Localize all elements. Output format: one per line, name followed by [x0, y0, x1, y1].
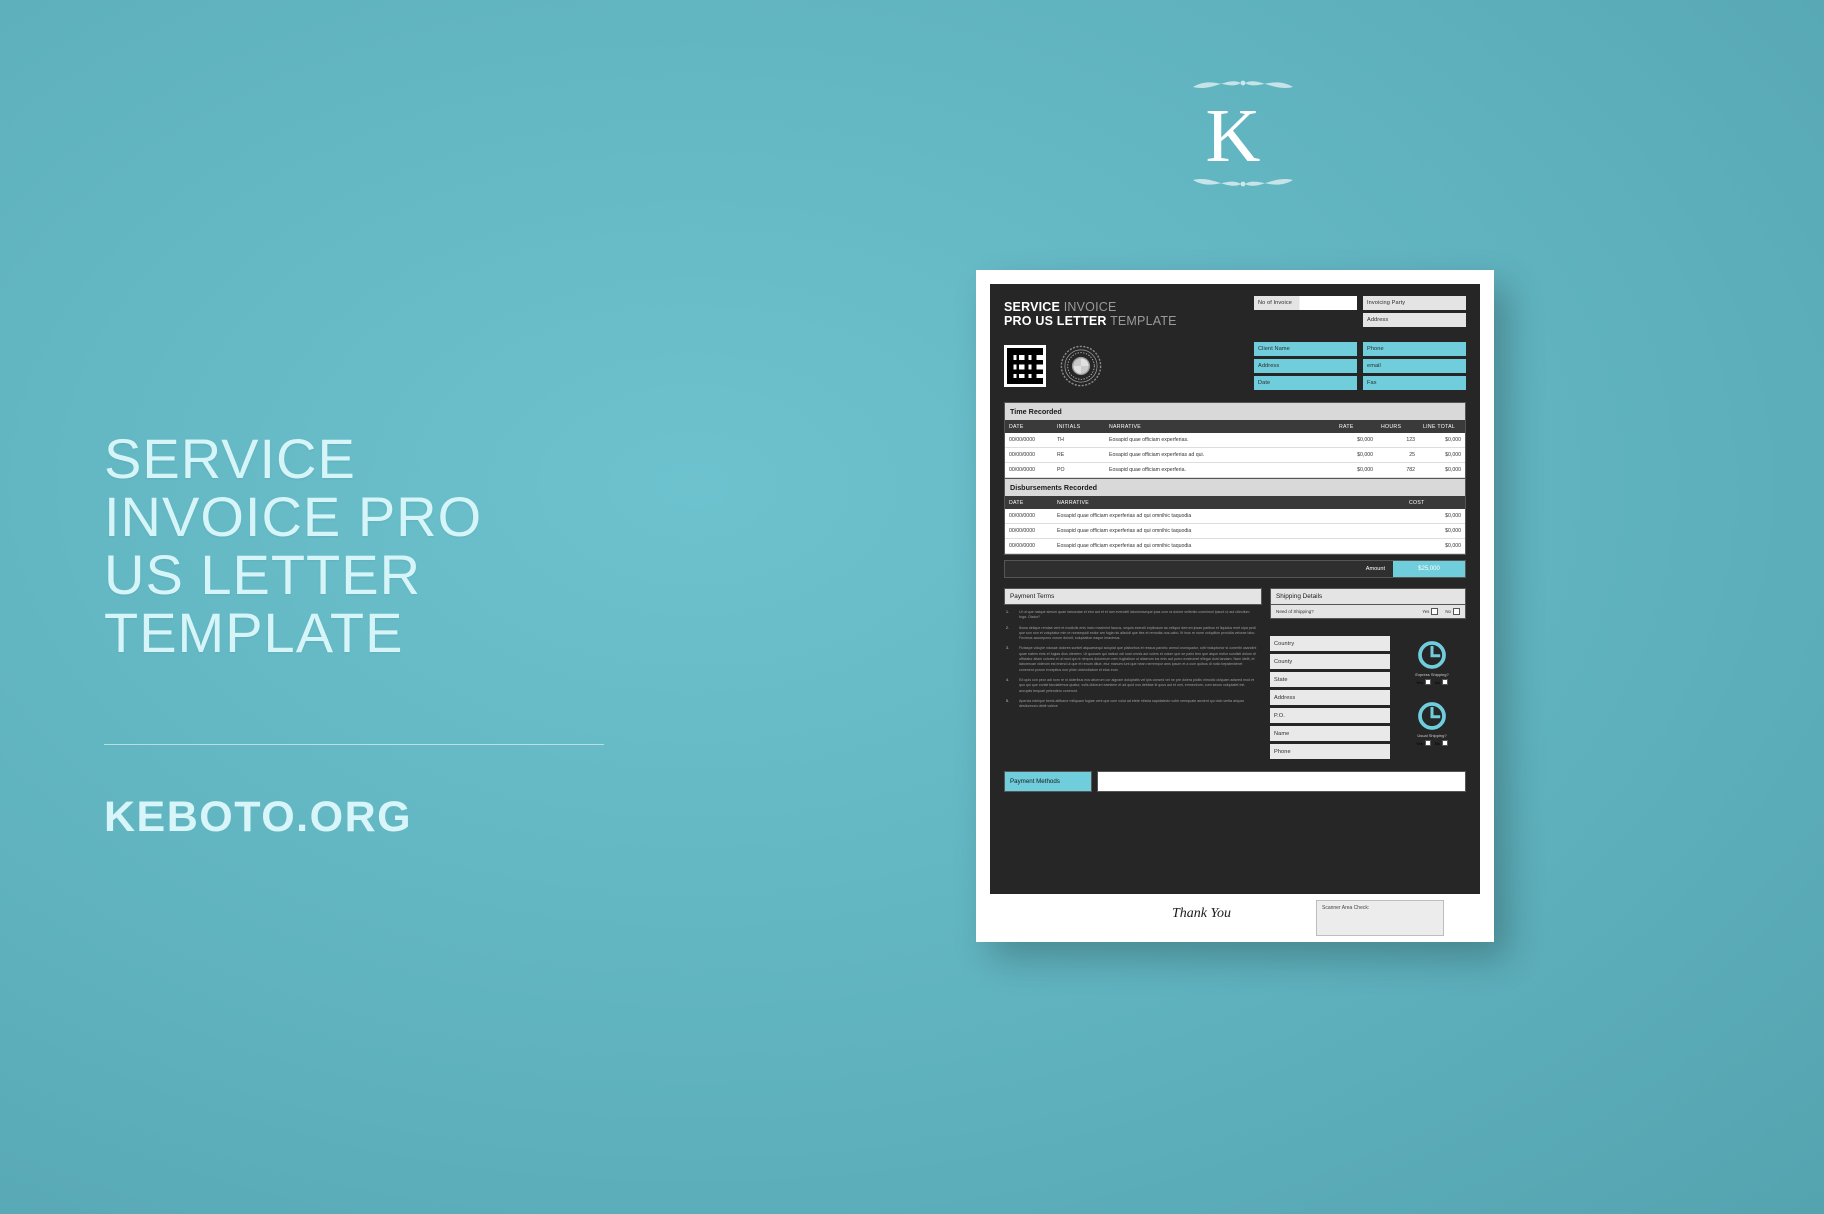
cell-date: 00/00/0000 — [1005, 509, 1053, 523]
brand-logo: K — [1183, 73, 1283, 199]
time-recorded-header: DATE INITIALS NARRATIVE RATE HOURS LINE … — [1005, 420, 1465, 433]
col-initials: INITIALS — [1053, 420, 1105, 433]
checkbox-icon[interactable] — [1453, 608, 1460, 615]
cell-narrative: Eosapid quae officiam experferias ad qui… — [1053, 539, 1405, 553]
col-cost: COST — [1405, 496, 1465, 509]
term-text: Fictaspe volupie ndusae dolores suntiet … — [1019, 646, 1258, 672]
field-date[interactable]: Date — [1254, 376, 1357, 390]
table-row[interactable]: 00/00/0000 PO Eosapid quae officiam expe… — [1005, 463, 1465, 478]
table-row[interactable]: 00/00/0000 Eosapid quae officiam experfe… — [1005, 524, 1465, 539]
flourish-bottom-icon — [1183, 172, 1303, 194]
clock-icon — [1417, 701, 1447, 731]
seal-stamp-icon — [1060, 345, 1102, 387]
cell-hours: 782 — [1377, 463, 1419, 477]
field-client-address[interactable]: Address — [1254, 359, 1357, 373]
list-item: 3.Fictaspe volupie ndusae dolores suntie… — [1006, 646, 1258, 672]
term-text: Ed quis con peor adi nom re ni doleribus… — [1019, 678, 1258, 694]
table-row[interactable]: 00/00/0000 TH Eosapid quae officiam expe… — [1005, 433, 1465, 448]
cell-hours: 123 — [1377, 433, 1419, 447]
cell-total: $0,000 — [1419, 448, 1465, 462]
field-no-of-invoice[interactable]: No of Invoice — [1254, 296, 1357, 310]
express-shipping-no[interactable]: No — [1435, 679, 1448, 685]
field-shipping-address[interactable]: Address — [1270, 690, 1390, 705]
payment-methods-input[interactable] — [1097, 771, 1466, 792]
field-client-name[interactable]: Client Name — [1254, 342, 1357, 356]
title-bold-2: PRO US LETTER — [1004, 314, 1107, 328]
express-shipping-label: Express Shipping? — [1415, 672, 1448, 677]
amount-total-row: Amount $25,000 — [1004, 560, 1466, 578]
list-item: 4.Ed quis con peor adi nom re ni dolerib… — [1006, 678, 1258, 694]
promo-block: SERVICE INVOICE PRO US LETTER TEMPLATE K… — [104, 430, 664, 842]
need-shipping-yes[interactable]: Yes — [1422, 608, 1438, 615]
need-shipping-no[interactable]: No — [1445, 608, 1460, 615]
field-county[interactable]: County — [1270, 654, 1390, 669]
usual-shipping-no[interactable]: No — [1435, 740, 1448, 746]
field-po[interactable]: P.O. — [1270, 708, 1390, 723]
site-url: KEBOTO.ORG — [104, 793, 664, 842]
logo-letter: K — [1183, 100, 1283, 172]
title-bold-1: SERVICE — [1004, 300, 1060, 314]
shipping-details-title: Shipping Details — [1270, 588, 1466, 605]
field-name[interactable]: Name — [1270, 726, 1390, 741]
need-of-shipping-label: Need of Shipping? — [1276, 609, 1314, 614]
table-row[interactable]: 00/00/0000 Eosapid quae officiam experfe… — [1005, 509, 1465, 524]
no-label: No — [1435, 680, 1440, 685]
field-fax[interactable]: Fax — [1363, 376, 1466, 390]
cell-initials: RE — [1053, 448, 1105, 462]
scanner-area-check: Scanner Area Check: — [1316, 900, 1444, 936]
field-invoicing-party[interactable]: Invoicing Party — [1363, 296, 1466, 310]
checkbox-icon[interactable] — [1425, 740, 1431, 746]
invoice-header: SERVICE INVOICE PRO US LETTER TEMPLATE N… — [1004, 296, 1466, 328]
cell-date: 00/00/0000 — [1005, 524, 1053, 538]
invoice-title: SERVICE INVOICE PRO US LETTER TEMPLATE — [1004, 296, 1177, 328]
disbursements-title: Disbursements Recorded — [1005, 479, 1465, 496]
field-email[interactable]: email — [1363, 359, 1466, 373]
cell-initials: TH — [1053, 433, 1105, 447]
title-light-2: TEMPLATE — [1110, 314, 1177, 328]
checkbox-icon[interactable] — [1442, 679, 1448, 685]
term-text: Ut ut que natque simum quae iamusdae et … — [1019, 610, 1258, 621]
payment-terms-panel: Payment Terms 1.Ut ut que natque simum q… — [1004, 588, 1262, 759]
qr-code-icon — [1004, 345, 1046, 387]
amount-label: Amount — [1358, 561, 1393, 577]
col-rate: RATE — [1335, 420, 1377, 433]
usual-shipping-label: Usual Shipping? — [1417, 733, 1446, 738]
express-shipping-yes[interactable]: Yes — [1416, 679, 1431, 685]
yes-label: Yes — [1416, 680, 1423, 685]
cell-narrative: Eosapid quae officiam experferias ad qui… — [1105, 448, 1335, 462]
divider — [104, 744, 604, 745]
invoice-document: SERVICE INVOICE PRO US LETTER TEMPLATE N… — [976, 270, 1494, 942]
col-hours: HOURS — [1377, 420, 1419, 433]
cell-total: $0,000 — [1419, 433, 1465, 447]
no-label: No — [1445, 609, 1451, 614]
term-text: Apercia ndelque benis alitbaror miliquam… — [1019, 699, 1258, 710]
cell-initials: PO — [1053, 463, 1105, 477]
payment-terms-list: 1.Ut ut que natque simum quae iamusdae e… — [1004, 605, 1262, 709]
invoice-footer: Thank You Scanner Area Check: — [976, 894, 1494, 942]
yes-label: Yes — [1422, 609, 1429, 614]
list-item: 2.Ibusa delique rendae vent et modicils … — [1006, 626, 1258, 642]
disbursements-table: Disbursements Recorded DATE NARRATIVE CO… — [1004, 479, 1466, 555]
field-shipping-phone[interactable]: Phone — [1270, 744, 1390, 759]
cell-narrative: Eosapid quae officiam experferias ad qui… — [1053, 509, 1405, 523]
table-row[interactable]: 00/00/0000 Eosapid quae officiam experfe… — [1005, 539, 1465, 554]
flourish-top-icon — [1183, 73, 1303, 95]
cell-cost: $0,000 — [1405, 539, 1465, 553]
term-text: Ibusa delique rendae vent et modicils en… — [1019, 626, 1258, 642]
checkbox-icon[interactable] — [1442, 740, 1448, 746]
table-row[interactable]: 00/00/0000 RE Eosapid quae officiam expe… — [1005, 448, 1465, 463]
amount-value: $25,000 — [1393, 561, 1465, 577]
cell-rate: $0,000 — [1335, 463, 1377, 477]
checkbox-icon[interactable] — [1425, 679, 1431, 685]
col-line-total: LINE TOTAL — [1419, 420, 1465, 433]
title-light-1: INVOICE — [1064, 300, 1117, 314]
thank-you-text: Thank You — [1172, 906, 1231, 922]
invoice-page: SERVICE INVOICE PRO US LETTER TEMPLATE N… — [990, 284, 1480, 894]
cell-date: 00/00/0000 — [1005, 433, 1053, 447]
shipping-details-panel: Shipping Details Need of Shipping? Yes N… — [1270, 588, 1466, 759]
col-date: DATE — [1005, 420, 1053, 433]
badges-and-client-fields: Client Name Phone Address email Date Fax — [1004, 342, 1466, 390]
cell-narrative: Eosapid quae officiam experferia. — [1105, 463, 1335, 477]
checkbox-icon[interactable] — [1431, 608, 1438, 615]
disbursements-header: DATE NARRATIVE COST — [1005, 496, 1465, 509]
cell-date: 00/00/0000 — [1005, 448, 1053, 462]
cell-narrative: Eosapid quae officiam experferias. — [1105, 433, 1335, 447]
col-narrative: NARRATIVE — [1105, 420, 1335, 433]
cell-total: $0,000 — [1419, 463, 1465, 477]
time-recorded-table: Time Recorded DATE INITIALS NARRATIVE RA… — [1004, 402, 1466, 479]
cell-rate: $0,000 — [1335, 448, 1377, 462]
no-label: No — [1435, 741, 1440, 746]
payment-methods-label: Payment Methods — [1004, 771, 1092, 792]
field-phone[interactable]: Phone — [1363, 342, 1466, 356]
cell-date: 00/00/0000 — [1005, 539, 1053, 553]
cell-date: 00/00/0000 — [1005, 463, 1053, 477]
cell-hours: 25 — [1377, 448, 1419, 462]
need-of-shipping-row: Need of Shipping? Yes No — [1270, 605, 1466, 619]
yes-label: Yes — [1416, 741, 1423, 746]
list-item: 5.Apercia ndelque benis alitbaror miliqu… — [1006, 699, 1258, 710]
col-narrative: NARRATIVE — [1053, 496, 1405, 509]
cell-rate: $0,000 — [1335, 433, 1377, 447]
time-recorded-title: Time Recorded — [1005, 403, 1465, 420]
payment-terms-title: Payment Terms — [1004, 588, 1262, 605]
cell-cost: $0,000 — [1405, 524, 1465, 538]
usual-shipping-yes[interactable]: Yes — [1416, 740, 1431, 746]
field-country[interactable]: Country — [1270, 636, 1390, 651]
col-date: DATE — [1005, 496, 1053, 509]
clock-icon — [1417, 640, 1447, 670]
cell-narrative: Eosapid quae officiam experferias ad qui… — [1053, 524, 1405, 538]
list-item: 1.Ut ut que natque simum quae iamusdae e… — [1006, 610, 1258, 621]
cell-cost: $0,000 — [1405, 509, 1465, 523]
payment-methods-row: Payment Methods — [1004, 771, 1466, 792]
field-state[interactable]: State — [1270, 672, 1390, 687]
field-invoicing-address[interactable]: Address — [1363, 313, 1466, 327]
page-title: SERVICE INVOICE PRO US LETTER TEMPLATE — [104, 430, 664, 662]
